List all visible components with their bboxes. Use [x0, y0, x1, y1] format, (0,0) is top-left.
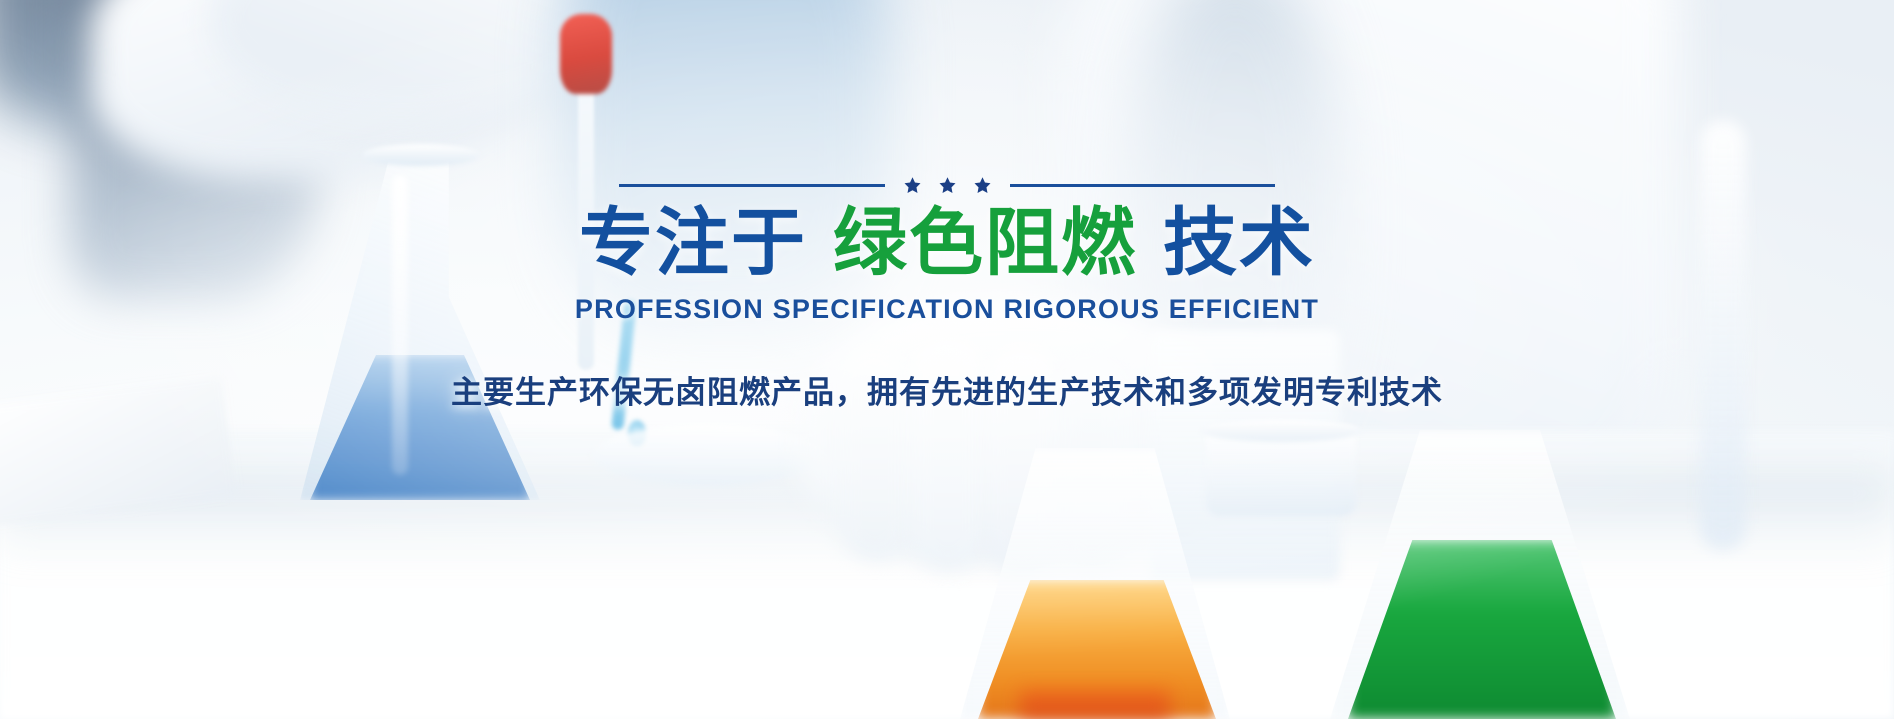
headline-part-1: 专注于 — [579, 201, 807, 284]
rule-right — [1010, 184, 1276, 187]
star-group — [903, 176, 992, 195]
star-icon — [903, 176, 922, 195]
headline: 专注于绿色阻燃技术 — [579, 204, 1315, 282]
english-subtitle: PROFESSION SPECIFICATION RIGOROUS EFFICI… — [575, 294, 1319, 325]
hero-banner: 专注于绿色阻燃技术 PROFESSION SPECIFICATION RIGOR… — [0, 0, 1894, 719]
decorative-rule-row — [619, 176, 1275, 195]
rule-left — [619, 184, 885, 187]
star-icon — [973, 176, 992, 195]
star-icon — [938, 176, 957, 195]
banner-content: 专注于绿色阻燃技术 PROFESSION SPECIFICATION RIGOR… — [0, 0, 1894, 719]
headline-part-2: 绿色阻燃 — [833, 201, 1137, 284]
chinese-tagline: 主要生产环保无卤阻燃产品，拥有先进的生产技术和多项发明专利技术 — [451, 367, 1443, 412]
headline-part-3: 技术 — [1163, 201, 1315, 284]
